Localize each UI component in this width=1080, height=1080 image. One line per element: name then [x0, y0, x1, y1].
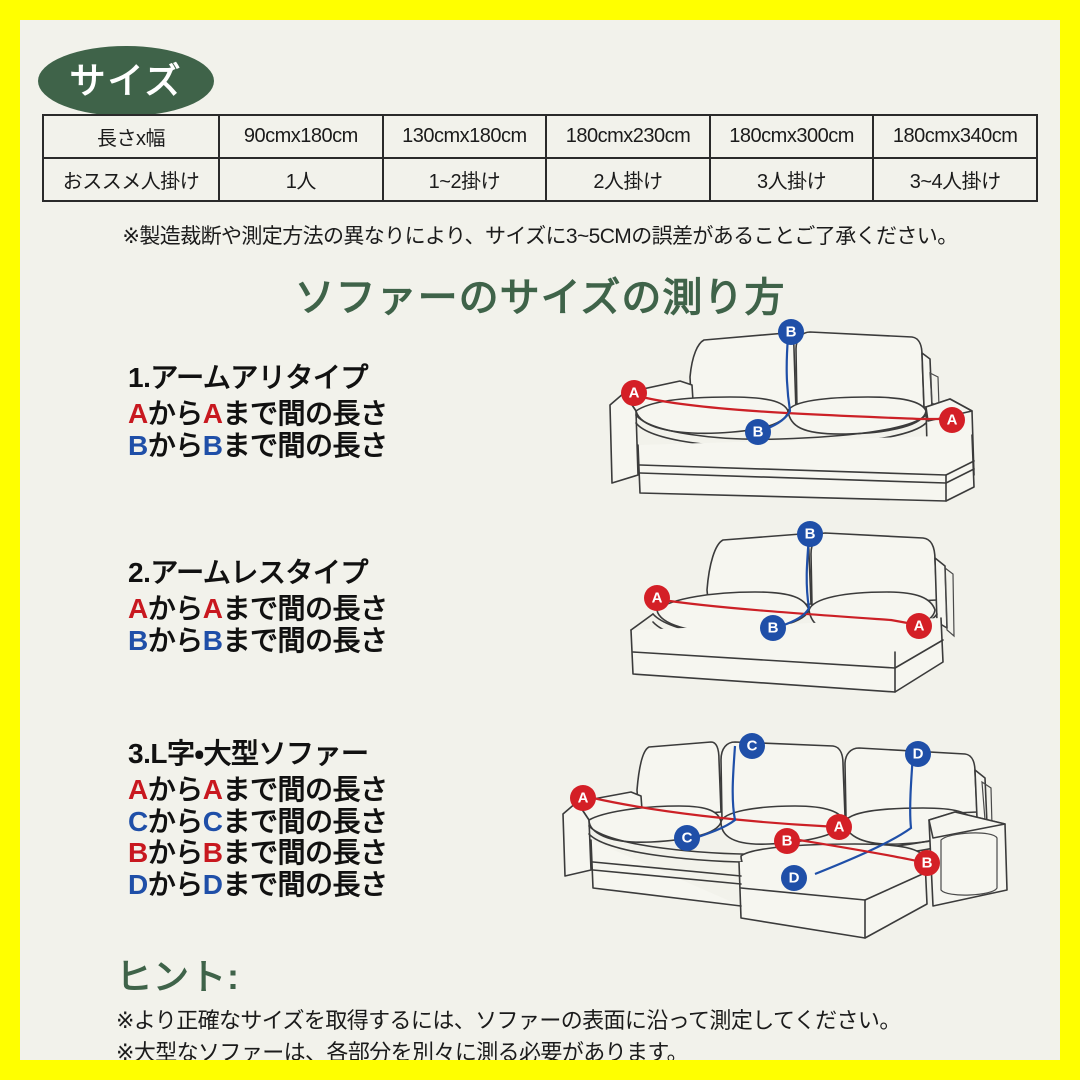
table-cell: 180cmx340cm [873, 115, 1037, 158]
svg-text:D: D [789, 870, 800, 887]
line-mid: から [148, 774, 203, 805]
marker-letter-b-to: B [203, 625, 223, 656]
line-rest: まで間の長さ [222, 625, 387, 656]
marker-b-bottom: B [745, 419, 771, 445]
svg-text:D: D [913, 746, 924, 763]
section-line: AからAまで間の長さ [128, 593, 388, 625]
marker-a-right: A [939, 407, 965, 433]
line-rest: まで間の長さ [222, 593, 387, 624]
size-badge: サイズ [38, 46, 214, 116]
marker-letter-a-to: A [203, 774, 223, 805]
line-rest: まで間の長さ [222, 430, 387, 461]
table-row: おススメ人掛け 1人 1~2掛け 2人掛け 3人掛け 3~4人掛け [43, 158, 1037, 201]
line-rest: まで間の長さ [222, 806, 387, 837]
svg-text:C: C [682, 830, 693, 847]
size-badge-label: サイズ [70, 63, 183, 99]
table-cell: 1人 [219, 158, 383, 201]
marker-b-bottom: B [760, 615, 786, 641]
hint-title: ヒント: [116, 948, 240, 1000]
marker-b-right: B [914, 850, 940, 876]
table-row: 長さx幅 90cmx180cm 130cmx180cm 180cmx230cm … [43, 115, 1037, 158]
svg-text:B: B [768, 620, 779, 637]
line-mid: から [148, 593, 203, 624]
section-line: DからDまで間の長さ [128, 869, 388, 901]
svg-text:B: B [753, 424, 764, 441]
marker-letter-a-from: A [128, 398, 148, 429]
line-mid: から [148, 430, 203, 461]
section-line: AからAまで間の長さ [128, 398, 388, 430]
sofa-diagram-l-shape-type: A A C C B B D D [545, 720, 1025, 950]
line-mid: から [148, 625, 203, 656]
line-mid: から [148, 869, 203, 900]
marker-c-bottom: C [674, 825, 700, 851]
table-cell: 180cmx230cm [546, 115, 710, 158]
section-line: AからAまで間の長さ [128, 774, 388, 806]
svg-text:A: A [629, 385, 640, 402]
marker-letter-b-to: B [203, 837, 223, 868]
svg-text:A: A [834, 819, 845, 836]
svg-text:A: A [578, 790, 589, 807]
marker-b-left: B [774, 828, 800, 854]
hint-body: ※より正確なサイズを取得するには、ソファーの表面に沿って測定してください。 ※大… [116, 1005, 901, 1060]
svg-text:A: A [947, 412, 958, 429]
measure-section-armless-type: 2.アームレスタイプ AからAまで間の長さ BからBまで間の長さ [128, 551, 388, 656]
marker-a-mid: A [826, 814, 852, 840]
size-table: 長さx幅 90cmx180cm 130cmx180cm 180cmx230cm … [42, 114, 1038, 202]
svg-text:B: B [786, 324, 797, 341]
marker-letter-a-to: A [203, 398, 223, 429]
table-cell: 3人掛け [710, 158, 874, 201]
section-line: BからBまで間の長さ [128, 837, 388, 869]
sofa-diagram-armless-type: A A B B [605, 518, 1005, 698]
line-mid: から [148, 806, 203, 837]
table-cell: 3~4人掛け [873, 158, 1037, 201]
table-cell: 180cmx300cm [710, 115, 874, 158]
section-title: 1.アームアリタイプ [128, 356, 388, 396]
section-line: CからCまで間の長さ [128, 806, 388, 838]
marker-letter-b-from: B [128, 837, 148, 868]
table-cell: 90cmx180cm [219, 115, 383, 158]
hint-line: ※より正確なサイズを取得するには、ソファーの表面に沿って測定してください。 [116, 1005, 901, 1037]
hint-line: ※大型なソファーは、各部分を別々に測る必要があります。 [116, 1037, 901, 1060]
svg-text:A: A [652, 590, 663, 607]
marker-a-right: A [906, 613, 932, 639]
marker-a-left: A [570, 785, 596, 811]
marker-letter-d-from: D [128, 869, 148, 900]
table-cell: 2人掛け [546, 158, 710, 201]
section-line: BからBまで間の長さ [128, 625, 388, 657]
marker-d-top: D [905, 741, 931, 767]
svg-text:B: B [782, 833, 793, 850]
marker-letter-b-from: B [128, 430, 148, 461]
marker-d-bottom: D [781, 865, 807, 891]
marker-letter-c-to: C [203, 806, 223, 837]
marker-c-top: C [739, 733, 765, 759]
sofa-diagram-arm-type: A A B B [580, 315, 1000, 510]
marker-a-left: A [644, 585, 670, 611]
sofa-outline-arm-type [610, 332, 974, 501]
measure-section-l-shape-type: 3.L字・大型ソファー AからAまで間の長さ CからCまで間の長さ BからBまで… [128, 732, 388, 901]
line-rest: まで間の長さ [222, 869, 387, 900]
section-title: 2.アームレスタイプ [128, 551, 388, 591]
marker-letter-b-from: B [128, 625, 148, 656]
line-mid: から [148, 398, 203, 429]
svg-text:A: A [914, 618, 925, 635]
marker-letter-d-to: D [203, 869, 223, 900]
marker-letter-a-from: A [128, 593, 148, 624]
marker-letter-a-from: A [128, 774, 148, 805]
table-cell: 1~2掛け [383, 158, 547, 201]
line-rest: まで間の長さ [222, 774, 387, 805]
marker-letter-b-to: B [203, 430, 223, 461]
marker-letter-a-to: A [203, 593, 223, 624]
marker-a-left: A [621, 380, 647, 406]
section-title: 3.L字・大型ソファー [128, 732, 388, 772]
svg-text:B: B [922, 855, 933, 872]
marker-b-top: B [778, 319, 804, 345]
marker-letter-c-from: C [128, 806, 148, 837]
svg-text:B: B [805, 526, 816, 543]
line-rest: まで間の長さ [222, 398, 387, 429]
line-mid: から [148, 837, 203, 868]
marker-b-top: B [797, 521, 823, 547]
table-row-header: おススメ人掛け [43, 158, 219, 201]
table-cell: 130cmx180cm [383, 115, 547, 158]
line-rest: まで間の長さ [222, 837, 387, 868]
table-row-header: 長さx幅 [43, 115, 219, 158]
section-line: BからBまで間の長さ [128, 430, 388, 462]
tolerance-note: ※製造裁断や測定方法の異なりにより、サイズに3~5CMの誤差があることご了承くだ… [20, 220, 1060, 250]
measure-section-arm-type: 1.アームアリタイプ AからAまで間の長さ BからBまで間の長さ [128, 356, 388, 461]
infographic-page: サイズ 長さx幅 90cmx180cm 130cmx180cm 180cmx23… [20, 20, 1060, 1060]
svg-text:C: C [747, 738, 758, 755]
